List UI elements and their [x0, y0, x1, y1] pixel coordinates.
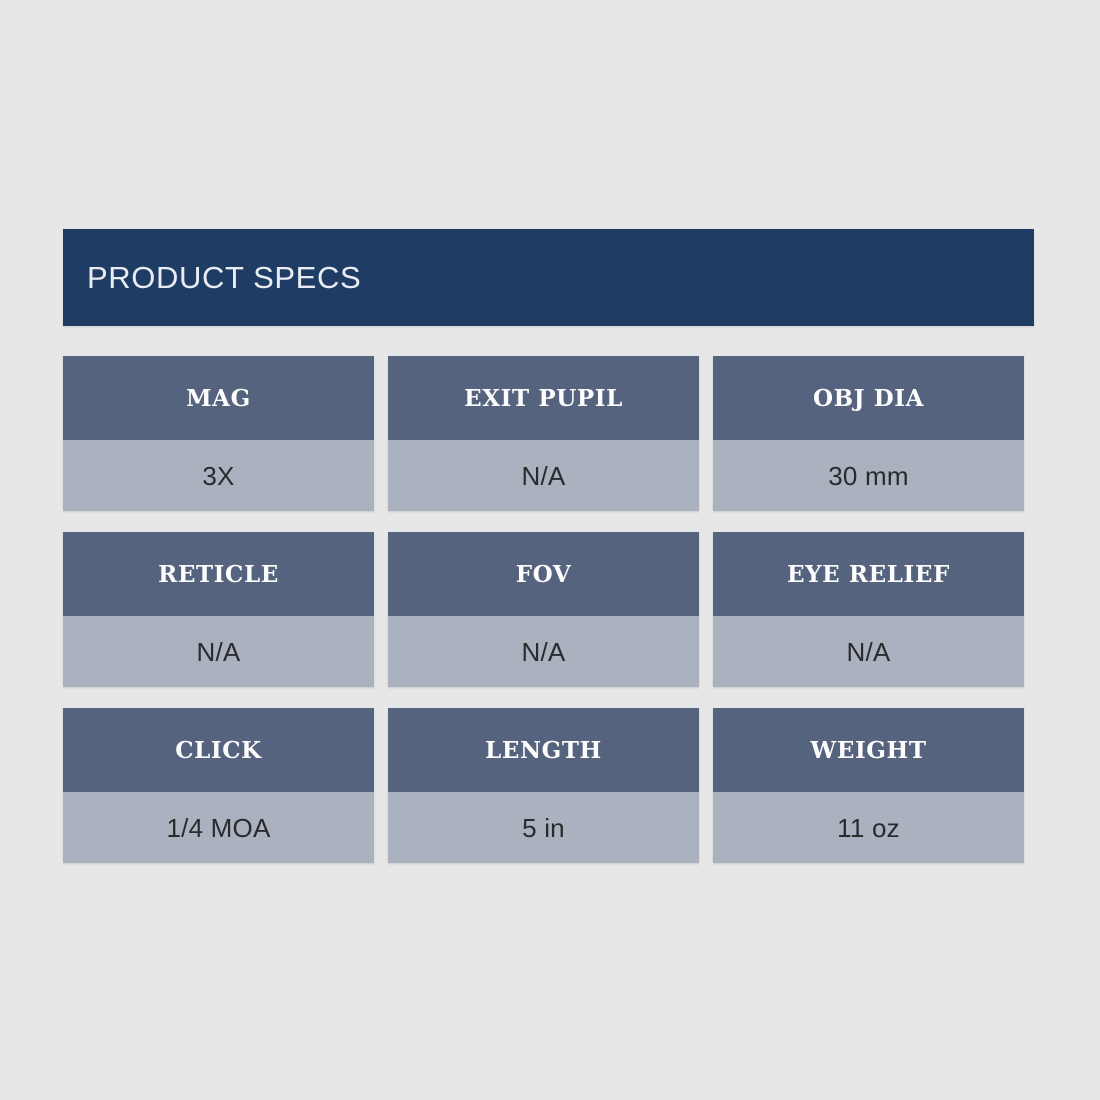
spec-value: N/A [63, 616, 374, 687]
spec-label: EXIT PUPIL [388, 356, 699, 440]
spec-card-exit-pupil: EXIT PUPIL N/A [388, 356, 699, 511]
spec-label: LENGTH [388, 708, 699, 792]
spec-value: 3X [63, 440, 374, 511]
spec-value: N/A [713, 616, 1024, 687]
spec-label: OBJ DIA [713, 356, 1024, 440]
spec-value: 30 mm [713, 440, 1024, 511]
spec-label: MAG [63, 356, 374, 440]
spec-label: EYE RELIEF [713, 532, 1024, 616]
spec-card-fov: FOV N/A [388, 532, 699, 687]
spec-value: N/A [388, 616, 699, 687]
spec-label: CLICK [63, 708, 374, 792]
spec-value: N/A [388, 440, 699, 511]
spec-label: WEIGHT [713, 708, 1024, 792]
spec-card-reticle: RETICLE N/A [63, 532, 374, 687]
spec-card-weight: WEIGHT 11 oz [713, 708, 1024, 863]
spec-label: RETICLE [63, 532, 374, 616]
spec-label: FOV [388, 532, 699, 616]
product-specs-panel: PRODUCT SPECS MAG 3X EXIT PUPIL N/A OBJ … [63, 229, 1034, 863]
spec-card-mag: MAG 3X [63, 356, 374, 511]
page-title: PRODUCT SPECS [63, 262, 361, 293]
specs-grid: MAG 3X EXIT PUPIL N/A OBJ DIA 30 mm RETI… [63, 356, 1034, 863]
product-specs-header: PRODUCT SPECS [63, 229, 1034, 326]
spec-card-length: LENGTH 5 in [388, 708, 699, 863]
spec-value: 11 oz [713, 792, 1024, 863]
spec-card-eye-relief: EYE RELIEF N/A [713, 532, 1024, 687]
spec-value: 1/4 MOA [63, 792, 374, 863]
spec-value: 5 in [388, 792, 699, 863]
spec-card-obj-dia: OBJ DIA 30 mm [713, 356, 1024, 511]
spec-card-click: CLICK 1/4 MOA [63, 708, 374, 863]
